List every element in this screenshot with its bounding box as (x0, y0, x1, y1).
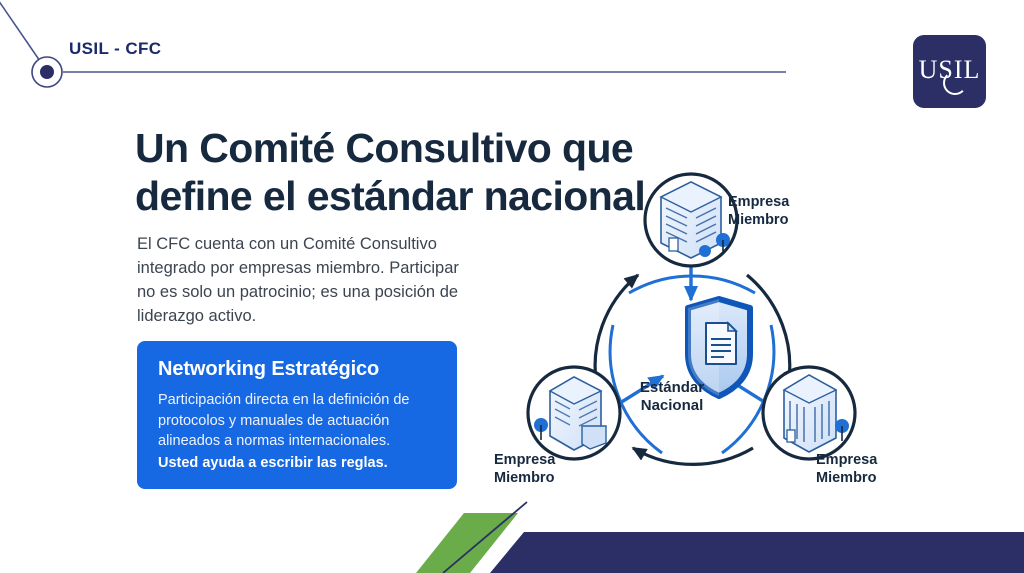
callout-body: Participación directa en la definición d… (158, 390, 436, 452)
document-icon (706, 323, 736, 364)
callout-card: Networking Estratégico Participación dir… (137, 341, 457, 489)
tree-icon-b (699, 245, 711, 257)
corner-dot-fill (40, 65, 54, 79)
corner-diagonal-line (0, 0, 42, 64)
node-left (528, 367, 620, 459)
node-label-left: Empresa Miembro (494, 452, 555, 487)
usil-logo: USIL (913, 35, 986, 108)
corner-dot-ring (32, 57, 62, 87)
usil-logo-swirl-icon (943, 71, 967, 95)
bottom-diagonal-line (443, 502, 527, 573)
bottom-green-slash (416, 513, 518, 573)
callout-emphasis: Usted ayuda a escribir las reglas. (158, 453, 436, 474)
header-kicker: USIL - CFC (69, 39, 161, 59)
node-label-right: Empresa Miembro (816, 452, 877, 487)
node-right (763, 367, 855, 459)
bottom-navy-band (490, 532, 1024, 573)
slide-canvas: USIL - CFC USIL Un Comité Consultivo que… (0, 0, 1024, 573)
cycle-diagram: Empresa Miembro Empresa Miembro Empresa … (470, 168, 940, 508)
node-top (645, 174, 737, 266)
arrow-right-to-left (633, 448, 753, 464)
diagram-center-label: Estándar Nacional (612, 379, 732, 416)
node-label-top: Empresa Miembro (728, 194, 789, 229)
callout-title: Networking Estratégico (158, 358, 436, 381)
lead-paragraph: El CFC cuenta con un Comité Consultivo i… (137, 232, 467, 328)
